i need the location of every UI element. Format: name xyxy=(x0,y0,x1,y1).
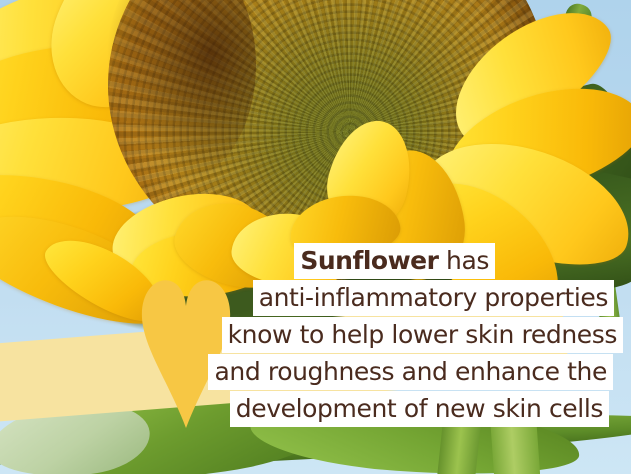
infographic-canvas: Sunflower has anti-inflammatory properti… xyxy=(0,0,631,474)
caption-line-5: development of new skin cells xyxy=(230,391,609,427)
caption-line-1: Sunflower has xyxy=(294,243,495,279)
caption-keyword: Sunflower xyxy=(300,246,438,275)
caption-line-4: and roughness and enhance the xyxy=(208,354,613,390)
caption-line-3: know to help lower skin redness xyxy=(222,317,623,353)
caption-line-2: anti-inflammatory properties xyxy=(253,280,614,316)
caption-line-1-rest: has xyxy=(438,246,489,275)
heart-icon xyxy=(140,276,232,428)
